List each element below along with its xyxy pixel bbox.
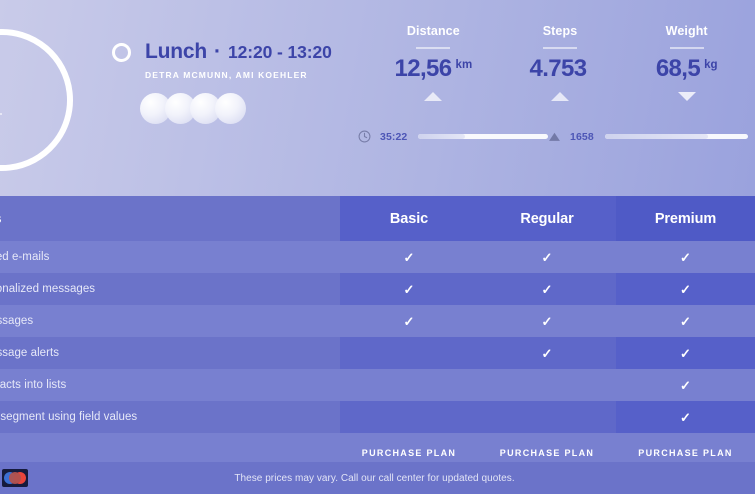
feature-label: ntacts into lists	[0, 379, 66, 391]
triangle-down-icon	[678, 92, 696, 101]
check-icon: ✓	[542, 251, 553, 264]
duration-progress-fill	[418, 134, 465, 139]
plan-name: Basic	[390, 211, 428, 227]
metric-weight: Weight 68,5kg	[623, 24, 750, 101]
metric-divider	[416, 47, 450, 49]
metric-steps: Steps 4.753	[497, 24, 624, 101]
metrics-row: Distance 12,56km Steps 4.753 Weight	[370, 24, 750, 101]
metric-label: Steps	[497, 24, 624, 38]
cell-regular	[478, 369, 616, 401]
app-root: ctive time 2:56 HOURS Lunch · 12:20 - 13…	[0, 0, 755, 494]
elevation-value: 1658	[570, 131, 594, 143]
cell-basic: ✓	[340, 241, 478, 273]
metric-label: Weight	[623, 24, 750, 38]
table-footer: These prices may vary. Call our call cen…	[0, 462, 755, 494]
gauge-divider	[0, 113, 2, 115]
triangle-up-icon	[424, 92, 442, 101]
metric-label: Distance	[370, 24, 497, 38]
avatar[interactable]	[215, 93, 246, 124]
metric-divider	[543, 47, 577, 49]
plan-name: Premium	[655, 211, 716, 227]
plan-name: Regular	[520, 211, 573, 227]
cell-premium: ✓	[616, 273, 755, 305]
check-icon: ✓	[404, 283, 415, 296]
logo-circle-overlap	[9, 472, 21, 484]
feature-cell: essages	[0, 305, 340, 337]
metric-value: 4.753	[529, 57, 586, 81]
elevation-bar-group: 1658	[548, 130, 748, 143]
cell-basic	[340, 401, 478, 433]
mountain-icon	[548, 130, 561, 143]
check-icon: ✓	[542, 283, 553, 296]
feature-label: essage alerts	[0, 347, 59, 359]
cell-basic	[340, 337, 478, 369]
table-row: ntacts into lists ✓	[0, 369, 755, 401]
gauge-readout: ctive time 2:56 HOURS	[0, 56, 42, 133]
metric-value: 68,5	[656, 57, 700, 81]
check-icon: ✓	[404, 315, 415, 328]
circle-outline-icon[interactable]	[112, 43, 131, 62]
check-icon: ✓	[542, 347, 553, 360]
mastercard-logo-icon	[2, 469, 28, 487]
cell-premium: ✓	[616, 241, 755, 273]
feature-cell: sonalized messages	[0, 273, 340, 305]
plan-header-premium[interactable]: Premium	[616, 196, 755, 241]
attendee-avatars	[140, 93, 240, 124]
cell-basic: ✓	[340, 305, 478, 337]
check-icon: ✓	[542, 315, 553, 328]
check-icon: ✓	[680, 315, 691, 328]
gauge-value: 2:56	[0, 73, 42, 103]
feature-header-label: s	[0, 211, 1, 226]
metric-distance: Distance 12,56km	[370, 24, 497, 101]
plan-header-basic[interactable]: Basic	[340, 196, 478, 241]
feature-label: sonalized messages	[0, 283, 95, 295]
cell-premium: ✓	[616, 369, 755, 401]
table-row: essage alerts ✓ ✓	[0, 337, 755, 369]
check-icon: ✓	[680, 251, 691, 264]
dashboard-panel: ctive time 2:56 HOURS Lunch · 12:20 - 13…	[0, 0, 755, 196]
duration-value: 35:22	[380, 131, 407, 143]
event-header: Lunch · 12:20 - 13:20	[112, 40, 332, 64]
feature-cell: ntacts into lists	[0, 369, 340, 401]
elevation-progress-fill	[605, 134, 708, 139]
event-attendees: DETRA MCMUNN, AMI KOEHLER	[145, 70, 332, 80]
table-row: sonalized messages ✓ ✓ ✓	[0, 273, 755, 305]
feature-cell: essage alerts	[0, 337, 340, 369]
metric-value: 12,56	[394, 57, 451, 81]
duration-progress-track[interactable]	[418, 134, 548, 139]
gauge-unit: HOURS	[0, 122, 42, 133]
cell-basic: ✓	[340, 273, 478, 305]
cell-regular: ✓	[478, 337, 616, 369]
feature-label: rt segment using field values	[0, 411, 137, 423]
check-icon: ✓	[680, 379, 691, 392]
cell-regular: ✓	[478, 241, 616, 273]
clock-icon	[358, 130, 371, 143]
purchase-plan-button[interactable]: PURCHASE PLAN	[500, 448, 594, 458]
plan-header-regular[interactable]: Regular	[478, 196, 616, 241]
cell-premium: ✓	[616, 401, 755, 433]
check-icon: ✓	[404, 251, 415, 264]
check-icon: ✓	[680, 283, 691, 296]
table-row: ited e-mails ✓ ✓ ✓	[0, 241, 755, 273]
purchase-plan-button[interactable]: PURCHASE PLAN	[362, 448, 456, 458]
table-row: rt segment using field values ✓	[0, 401, 755, 433]
event-block: Lunch · 12:20 - 13:20 DETRA MCMUNN, AMI …	[112, 40, 332, 80]
feature-label: essages	[0, 315, 33, 327]
footer-note: These prices may vary. Call our call cen…	[28, 473, 721, 484]
feature-header-cell: s	[0, 196, 340, 241]
metric-divider	[670, 47, 704, 49]
metric-unit: kg	[704, 59, 717, 71]
gauge-label: ctive time	[0, 56, 42, 70]
feature-label: ited e-mails	[0, 251, 49, 263]
elevation-progress-track[interactable]	[605, 134, 748, 139]
event-time-range: 12:20 - 13:20	[228, 42, 332, 63]
cell-basic	[340, 369, 478, 401]
cell-regular: ✓	[478, 305, 616, 337]
event-title: Lunch	[145, 40, 207, 64]
event-separator: ·	[214, 40, 221, 64]
table-row: essages ✓ ✓ ✓	[0, 305, 755, 337]
check-icon: ✓	[680, 411, 691, 424]
feature-cell: rt segment using field values	[0, 401, 340, 433]
purchase-plan-button[interactable]: PURCHASE PLAN	[638, 448, 732, 458]
feature-cell: ited e-mails	[0, 241, 340, 273]
cell-premium: ✓	[616, 337, 755, 369]
pricing-table: s Basic Regular Premium ited e-mails ✓ ✓…	[0, 196, 755, 494]
duration-bar-group: 35:22	[358, 130, 548, 143]
cell-regular	[478, 401, 616, 433]
check-icon: ✓	[680, 347, 691, 360]
triangle-up-icon	[551, 92, 569, 101]
cell-regular: ✓	[478, 273, 616, 305]
table-header-row: s Basic Regular Premium	[0, 196, 755, 241]
metric-unit: km	[456, 59, 473, 71]
cell-premium: ✓	[616, 305, 755, 337]
progress-bars-row: 35:22 1658	[358, 130, 750, 143]
